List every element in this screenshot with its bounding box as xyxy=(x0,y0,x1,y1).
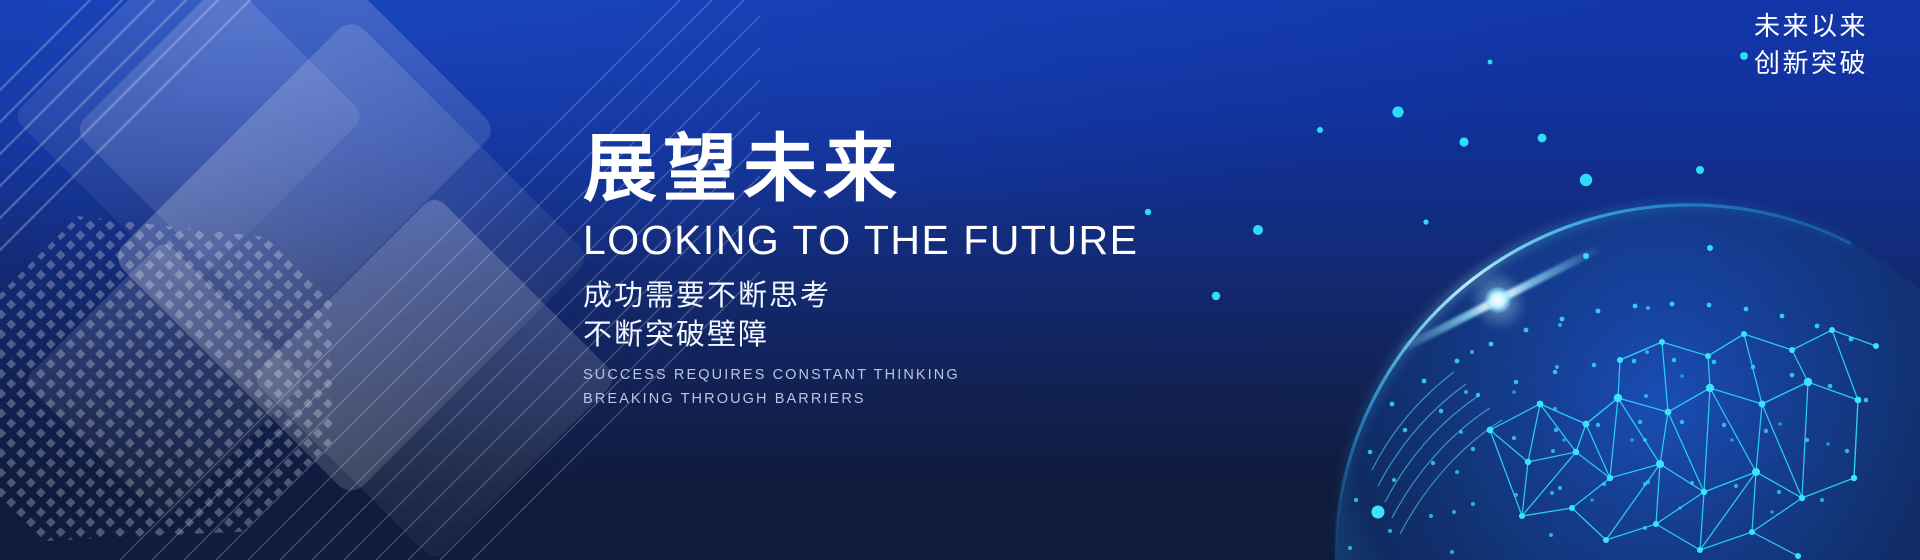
banner-hero: 展望未来 LOOKING TO THE FUTURE 成功需要不断思考 不断突破… xyxy=(0,0,1920,560)
corner-slogan-line2: 创新突破 xyxy=(1754,45,1868,82)
corner-slogan-line1: 未来以来 xyxy=(1754,8,1868,45)
chinese-tagline: 成功需要不断思考 不断突破壁障 xyxy=(583,277,1203,354)
english-tagline-line2: BREAKING THROUGH BARRIERS xyxy=(583,388,1203,411)
flare-core xyxy=(1485,287,1511,313)
page-title: 展望未来 xyxy=(583,132,1203,206)
chinese-tagline-line2: 不断突破壁障 xyxy=(583,316,1203,355)
corner-slogan: 未来以来 创新突破 xyxy=(1754,8,1868,82)
english-tagline: SUCCESS REQUIRES CONSTANT THINKING BREAK… xyxy=(583,364,1203,411)
page-subtitle-english: LOOKING TO THE FUTURE xyxy=(583,220,1203,261)
english-tagline-line1: SUCCESS REQUIRES CONSTANT THINKING xyxy=(583,364,1203,387)
flare-streak xyxy=(1394,244,1603,356)
flare-glow xyxy=(1459,259,1538,341)
chinese-tagline-line1: 成功需要不断思考 xyxy=(583,277,1203,316)
hero-copy-block: 展望未来 LOOKING TO THE FUTURE 成功需要不断思考 不断突破… xyxy=(583,132,1203,411)
